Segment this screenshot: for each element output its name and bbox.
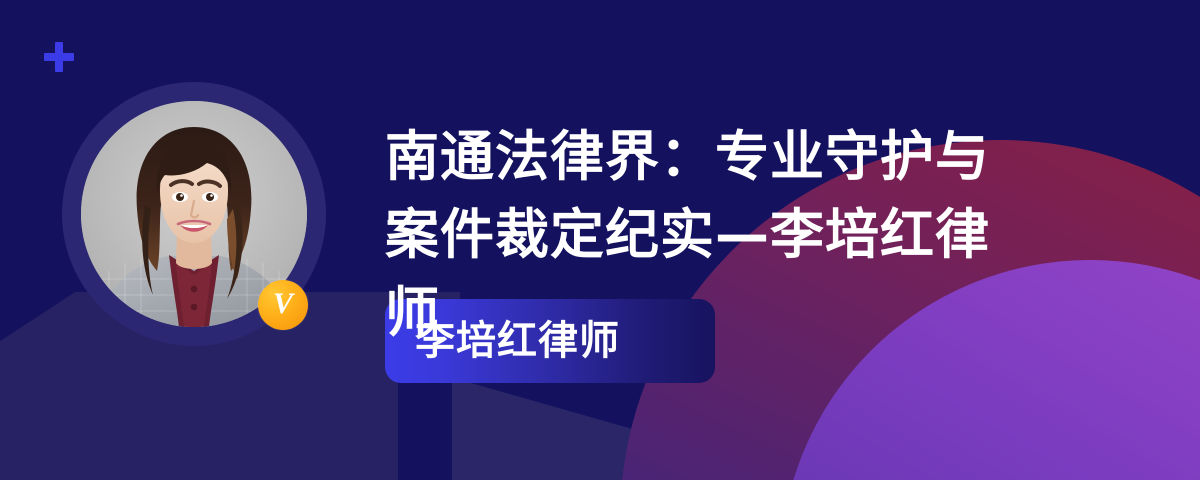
verified-badge-icon: V xyxy=(258,280,308,330)
page-title: 南通法律界：专业守护与 案件裁定纪实—李培红律 师 xyxy=(385,118,1085,352)
headline-block: 南通法律界：专业守护与 案件裁定纪实—李培红律 师 xyxy=(385,118,1085,352)
article-banner: V 李培红律师 南通法律界：专业守护与 案件裁定纪实—李培红律 师 xyxy=(0,0,1200,480)
verified-badge-glyph: V xyxy=(273,289,293,319)
avatar: V xyxy=(62,82,326,346)
plus-icon xyxy=(44,42,74,72)
